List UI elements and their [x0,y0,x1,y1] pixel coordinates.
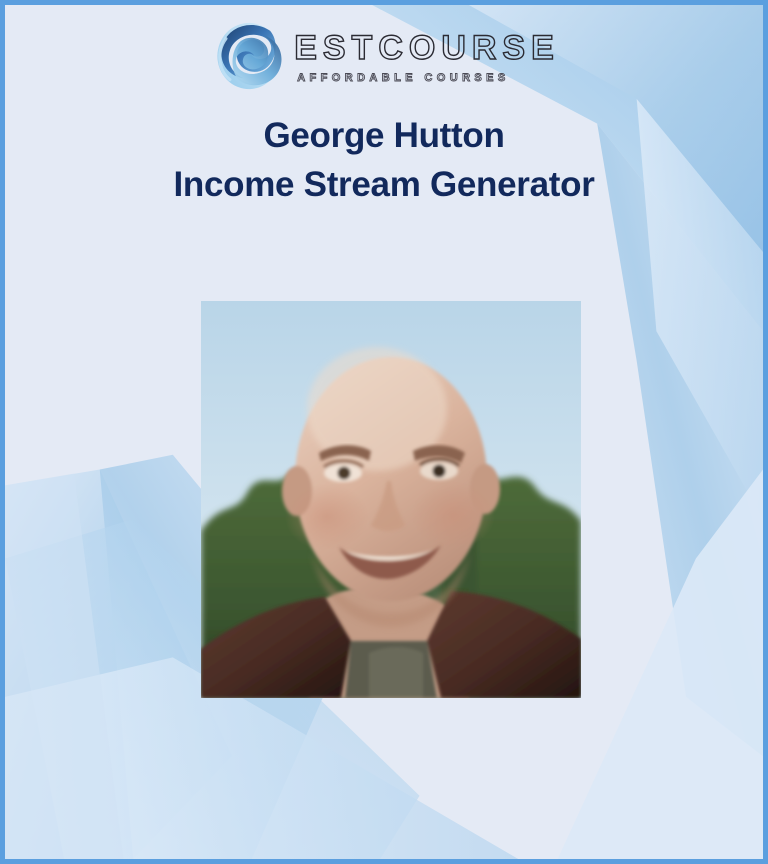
brand-tagline: AFFORDABLE COURSES [294,72,560,84]
portrait-photo [201,301,581,698]
page-title: George Hutton Income Stream Generator [5,111,763,209]
brand-wordmark: ESTCOURSE AFFORDABLE COURSES [294,31,560,84]
brand-logo: ESTCOURSE AFFORDABLE COURSES [208,13,560,99]
brand-name: ESTCOURSE [294,31,560,65]
swirl-c-logo-icon [208,15,288,97]
title-course-name: Income Stream Generator [5,160,763,209]
course-product-card: ESTCOURSE AFFORDABLE COURSES George Hutt… [0,0,768,864]
card-header: ESTCOURSE AFFORDABLE COURSES George Hutt… [5,5,763,209]
title-author-name: George Hutton [5,111,763,160]
